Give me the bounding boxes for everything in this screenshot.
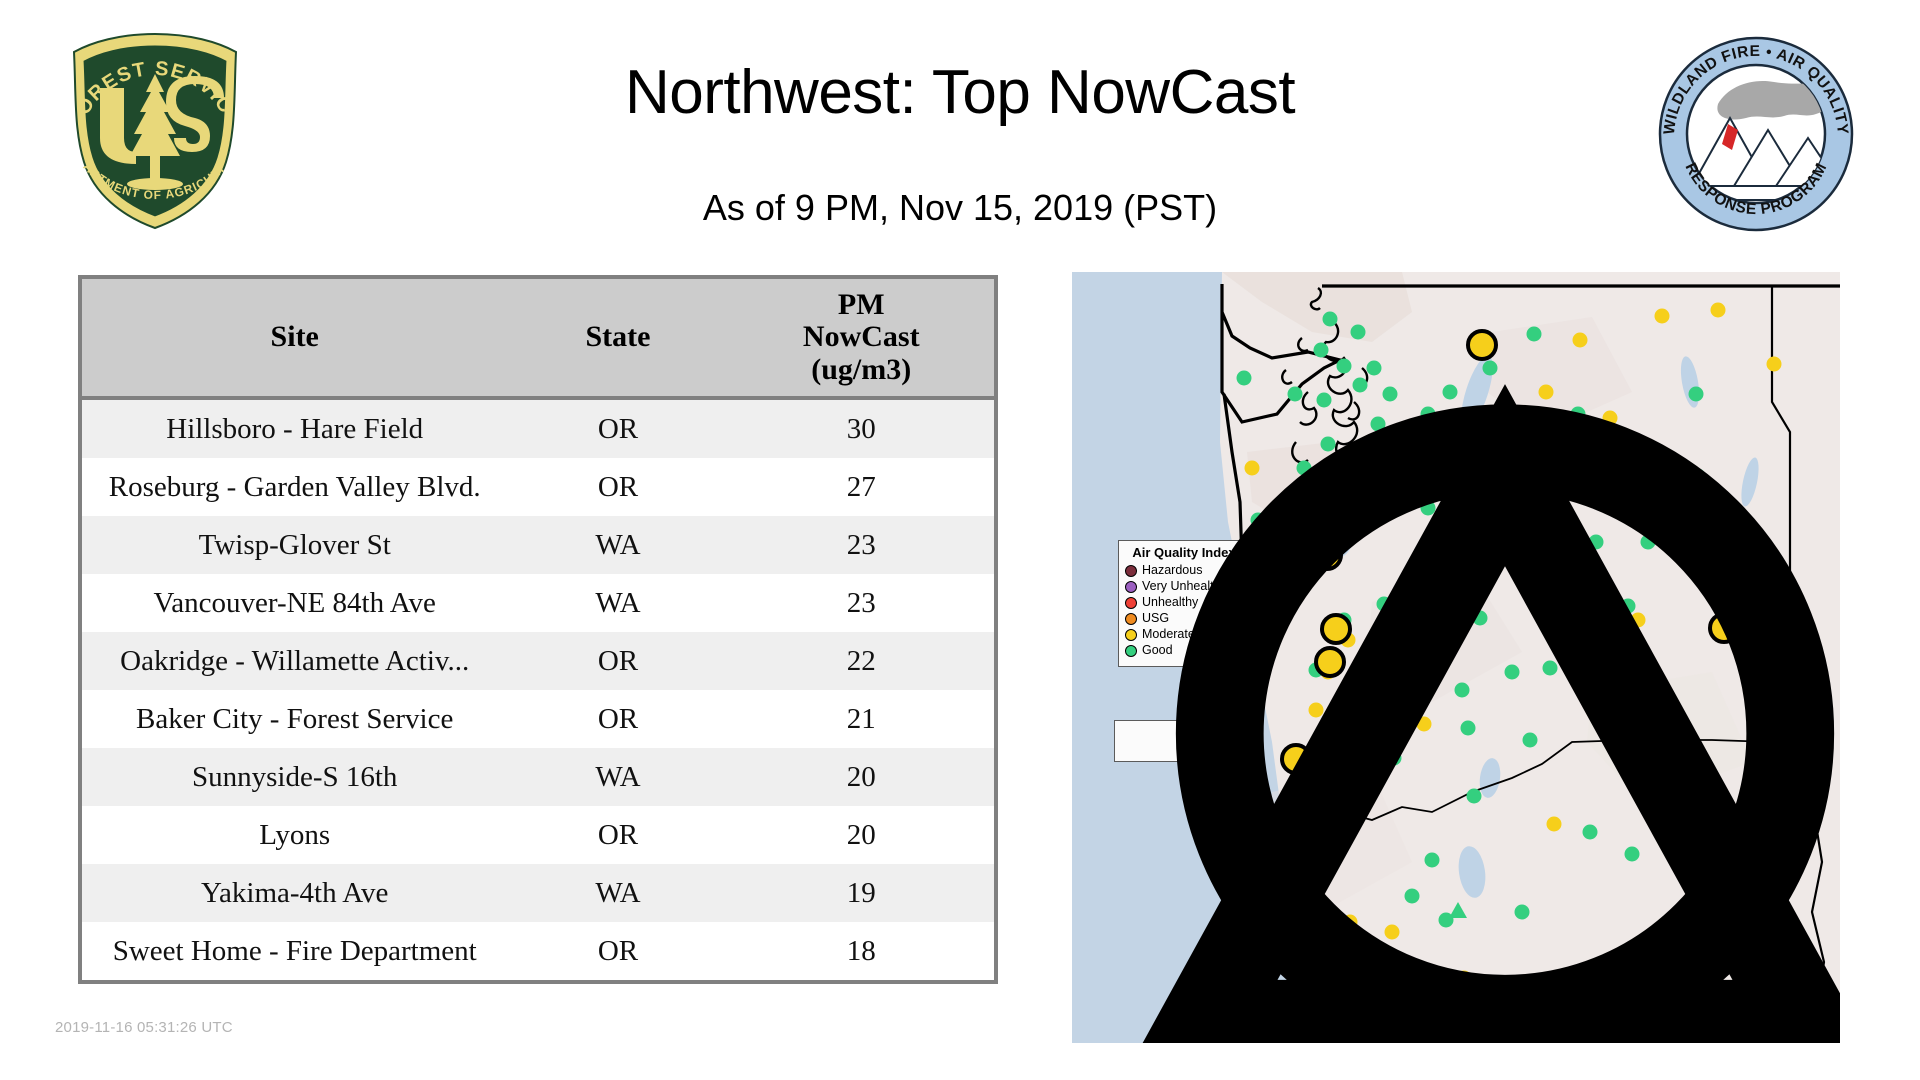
cell-pm: 20 [729,748,995,806]
cell-state: OR [507,806,728,864]
cell-site: Roseburg - Garden Valley Blvd. [82,458,507,516]
cell-state: OR [507,458,728,516]
table-header-row: Site State PM NowCast (ug/m3) [82,279,994,398]
table-row: Lyons OR 20 [82,806,994,864]
pm-header-line-3: (ug/m3) [811,353,911,386]
wfaqrp-logo: WILDLAND FIRE • AIR QUALITY RESPONSE PRO… [1656,34,1856,234]
cell-site: Hillsboro - Hare Field [82,398,507,458]
legend-item-permanent: permanent [1121,741,1195,757]
column-header-site: Site [82,279,507,398]
page-subtitle: As of 9 PM, Nov 15, 2019 (PST) [0,190,1920,226]
cell-site: Vancouver-NE 84th Ave [82,574,507,632]
cell-site: Lyons [82,806,507,864]
cell-pm: 20 [729,806,995,864]
cell-site: Sunnyside-S 16th [82,748,507,806]
table-row: Sweet Home - Fire Department OR 18 [82,922,994,980]
table-row: Sunnyside-S 16th WA 20 [82,748,994,806]
pm-header-line-2: NowCast [803,320,920,353]
table-row: Yakima-4th Ave WA 19 [82,864,994,922]
cell-pm: 19 [729,864,995,922]
cell-site: Baker City - Forest Service [82,690,507,748]
table-row: Oakridge - Willamette Activ... OR 22 [82,632,994,690]
monitor-type-legend: temporary permanent [1114,720,1202,762]
cell-state: WA [507,574,728,632]
cell-site: Sweet Home - Fire Department [82,922,507,980]
page-title: Northwest: Top NowCast [0,62,1920,124]
cell-site: Yakima-4th Ave [82,864,507,922]
table-body: Hillsboro - Hare Field OR 30 Roseburg - … [82,398,994,980]
cell-state: OR [507,690,728,748]
cell-state: WA [507,516,728,574]
cell-state: OR [507,922,728,980]
cell-pm: 30 [729,398,995,458]
cell-pm: 22 [729,632,995,690]
cell-pm: 21 [729,690,995,748]
nowcast-table-container: Site State PM NowCast (ug/m3) Hillsboro … [78,275,998,984]
column-header-pm-nowcast: PM NowCast (ug/m3) [729,279,995,398]
cell-site: Oakridge - Willamette Activ... [82,632,507,690]
cell-state: OR [507,398,728,458]
cell-pm: 27 [729,458,995,516]
nowcast-table: Site State PM NowCast (ug/m3) Hillsboro … [82,279,994,980]
generation-timestamp: 2019-11-16 05:31:26 UTC [55,1019,233,1036]
air-quality-map[interactable]: Air Quality Index Hazardous Very Unhealt… [1072,272,1840,1043]
table-row: Roseburg - Garden Valley Blvd. OR 27 [82,458,994,516]
cell-pm: 23 [729,574,995,632]
cell-pm: 18 [729,922,995,980]
table-row: Vancouver-NE 84th Ave WA 23 [82,574,994,632]
cell-state: WA [507,748,728,806]
table-row: Baker City - Forest Service OR 21 [82,690,994,748]
slide-canvas: FOREST SERVICE DEPARTMENT OF AGRICULTURE… [0,0,1920,1080]
column-header-state: State [507,279,728,398]
table-row: Twisp-Glover St WA 23 [82,516,994,574]
table-row: Hillsboro - Hare Field OR 30 [82,398,994,458]
pm-header-line-1: PM [838,288,885,321]
cell-state: OR [507,632,728,690]
triangle-marker-icon [1121,364,1840,1044]
cell-state: WA [507,864,728,922]
cell-pm: 23 [729,516,995,574]
cell-site: Twisp-Glover St [82,516,507,574]
